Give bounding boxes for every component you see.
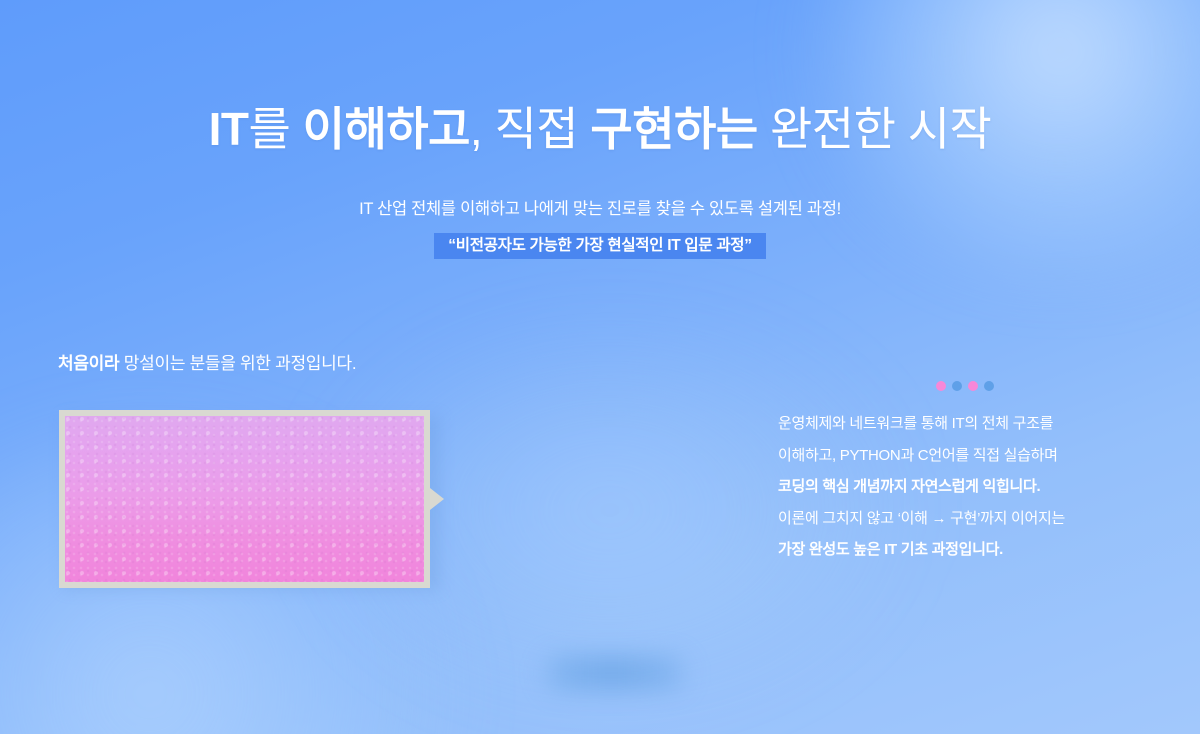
headline-text-2: , 직접 — [470, 103, 590, 155]
hero-subtitle: IT 산업 전체를 이해하고 나에게 맞는 진로를 찾을 수 있도록 설계된 과… — [0, 197, 1200, 221]
speech-bubble-texture — [65, 416, 424, 582]
paragraph-line: 가장 완성도 높은 IT 기초 과정입니다. — [778, 534, 1148, 566]
left-heading-rest: 망설이는 분들을 위한 과정입니다. — [119, 354, 356, 373]
headline-bold-it: IT — [209, 103, 249, 155]
headline-text-3: 완전한 시작 — [758, 103, 992, 155]
dot-4-blue — [984, 381, 994, 391]
dot-indicator — [936, 381, 994, 391]
hero-badge-row: “비전공자도 가능한 가장 현실적인 IT 입문 과정” — [0, 233, 1200, 259]
speech-bubble-card — [59, 410, 444, 588]
left-section-heading: 처음이라 망설이는 분들을 위한 과정입니다. — [58, 351, 356, 377]
headline-bold-implement: 구현하는 — [590, 103, 757, 155]
paragraph-line: 코딩의 핵심 개념까지 자연스럽게 익힙니다. — [778, 471, 1148, 503]
paragraph-line: 이해하고, PYTHON과 C언어를 직접 실습하며 — [778, 440, 1148, 472]
dot-1-pink — [936, 381, 946, 391]
right-section-paragraph: 운영체제와 네트워크를 통해 IT의 전체 구조를 이해하고, PYTHON과 … — [778, 408, 1148, 566]
dot-3-pink — [968, 381, 978, 391]
paragraph-line: 이론에 그치지 않고 ‘이해 → 구현’까지 이어지는 — [778, 503, 1148, 535]
dot-2-blue — [952, 381, 962, 391]
paragraph-line: 운영체제와 네트워크를 통해 IT의 전체 구조를 — [778, 408, 1148, 440]
status-badge: “비전공자도 가능한 가장 현실적인 IT 입문 과정” — [434, 233, 765, 259]
headline-text-1: 를 — [249, 103, 303, 155]
speech-bubble-border — [59, 410, 444, 588]
hero-section: IT를 이해하고, 직접 구현하는 완전한 시작 IT 산업 전체를 이해하고 … — [0, 0, 1200, 734]
left-heading-bold: 처음이라 — [58, 354, 119, 373]
page-title: IT를 이해하고, 직접 구현하는 완전한 시작 — [0, 99, 1200, 159]
headline-bold-understand: 이해하고 — [303, 103, 470, 155]
speech-bubble-fill — [65, 416, 424, 582]
